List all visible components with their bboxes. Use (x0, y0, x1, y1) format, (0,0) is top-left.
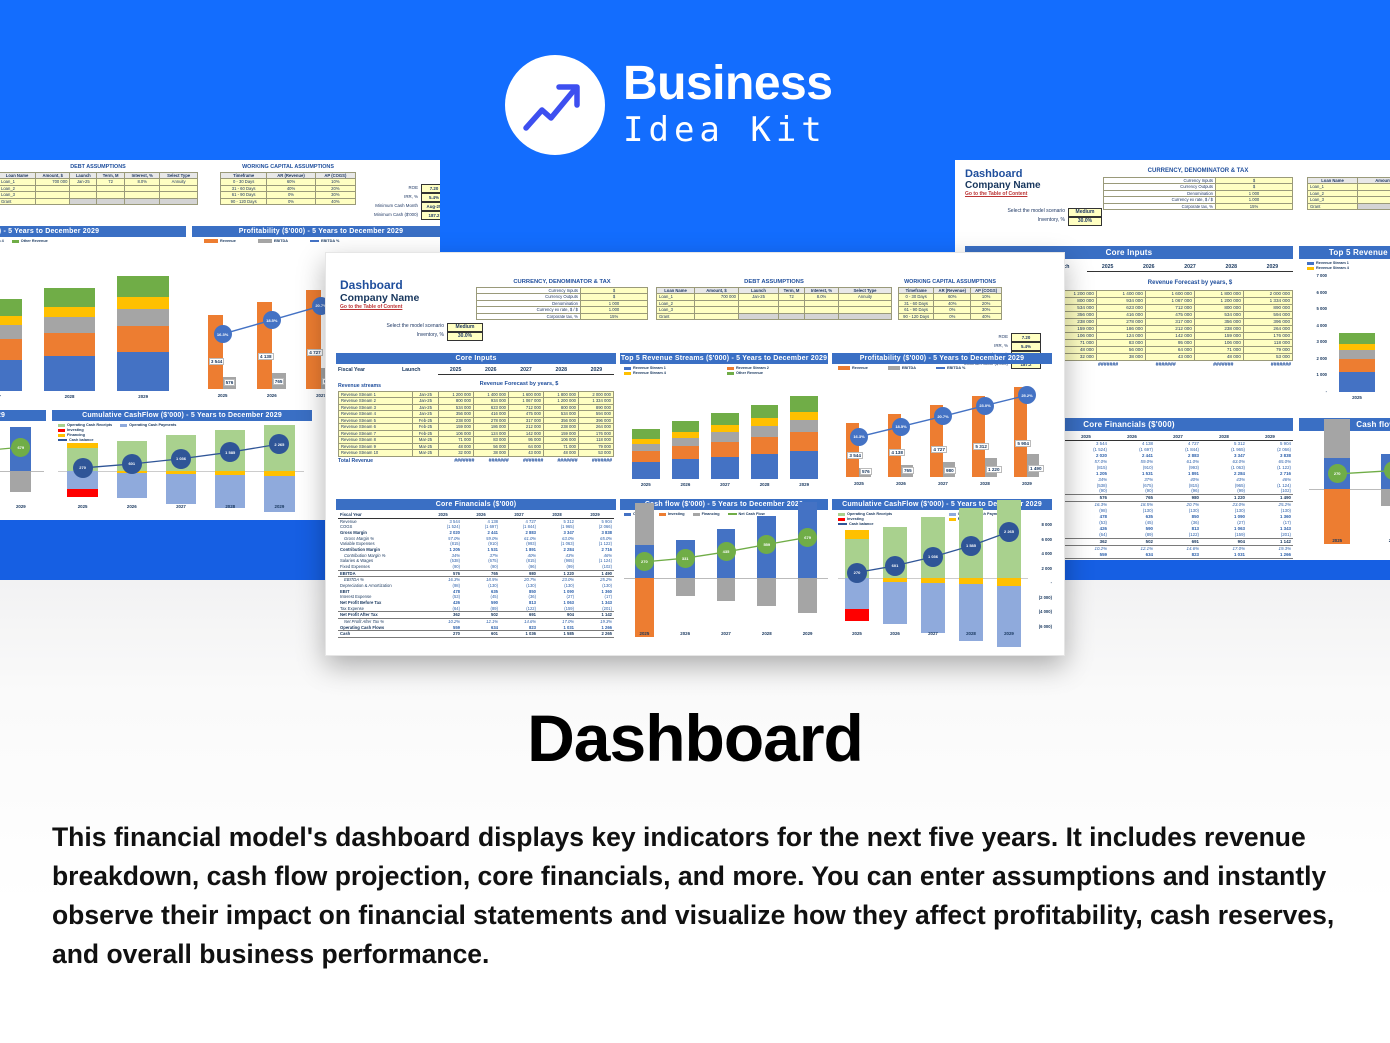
cell-forecast-value[interactable]: 32 000 (439, 450, 474, 456)
bar-segment (0, 339, 22, 360)
cell-forecast-value[interactable]: 48 000 (1194, 353, 1243, 360)
cell-forecast-value[interactable]: 53 000 (1243, 353, 1292, 360)
debt-assumptions-table[interactable]: Loan Name Amount, $ Launch Term, M Inter… (656, 287, 892, 320)
ebitda-percent-bubble: 23.0% (976, 397, 994, 415)
cell-label: Corporate tax, % (477, 313, 581, 319)
bar-segment (672, 438, 700, 447)
profitability-chart: 3 5445764 1387654 7279805 3121 2205 9041… (836, 379, 1050, 493)
cell-ar[interactable]: 0% (267, 198, 315, 204)
table-row[interactable]: Grant (1308, 203, 1390, 209)
growth-arrow-icon (505, 55, 605, 155)
table-header-row: Timeframe AR (Revenue) AP (COGS) (221, 173, 356, 179)
bar-segment (711, 425, 739, 432)
x-axis-tick: 2026 (672, 482, 700, 487)
cell-forecast-value[interactable]: 1 067 000 (1145, 297, 1194, 304)
profitability-chart-title: Profitability ($'000) - 5 Years to Decem… (192, 226, 440, 237)
scenario-select[interactable]: Medium (447, 323, 483, 332)
row-value: 1 220 (538, 570, 576, 577)
dashboard-heading-right: Dashboard Company Name Go to the Table o… (965, 168, 1041, 197)
x-axis-tick: 2027 (922, 481, 964, 486)
legend-item: Revenue (838, 366, 868, 370)
year-header: 20252026202720282029 (1087, 264, 1293, 272)
page-title: Dashboard (0, 700, 1390, 776)
cell-launch[interactable] (739, 313, 779, 319)
cell-stream-name[interactable]: Revenue Stream 10 (339, 450, 413, 456)
table-row[interactable]: Corporate tax, %15% (1104, 203, 1293, 209)
cell-forecast-value[interactable]: 396 000 (1243, 318, 1292, 325)
profitability-banner: Profitability ($'000) - 5 Years to Decem… (832, 353, 1052, 364)
scenario-selector-row: Select the model scenario Medium (352, 323, 483, 332)
row-value: 601 (462, 631, 500, 638)
ebitda-percent-bubble: 16.3% (214, 325, 232, 343)
col-ap: AP (COGS) (971, 288, 1002, 294)
cell-forecast-value[interactable]: 278 000 (1096, 318, 1145, 325)
cash-balance-bubble: 2 265 (999, 522, 1019, 542)
net-cash-flow-line (624, 525, 828, 627)
legend-item: Revenue Stream 1 (624, 366, 719, 370)
bar-plot-area: 270331435559679 (624, 525, 828, 627)
net-cash-flow-bubble: 679 (11, 438, 30, 457)
bar-column (0, 255, 22, 391)
x-axis-tick: 2028 (206, 504, 255, 509)
working-capital-table[interactable]: Timeframe AR (Revenue) AP (COGS) 0 - 30 … (220, 172, 356, 205)
cash-balance-bubble: 270 (847, 563, 867, 583)
working-capital-table[interactable]: Timeframe AR (Revenue) AP (COGS) 0 - 30 … (898, 287, 1002, 320)
top5-revenue-chart-right: -1 0002 0003 0004 0005 0006 0007 0002025… (1307, 276, 1390, 406)
row-value: 1 142 (1247, 538, 1293, 545)
x-axis-tick: 2028 (964, 481, 1006, 486)
bar-segment (632, 451, 660, 462)
table-header-row: Timeframe AR (Revenue) AP (COGS) (899, 288, 1002, 294)
table-of-content-link[interactable]: Go to the Table of Content (340, 304, 419, 310)
cell-forecast-value[interactable]: 38 000 (1096, 353, 1145, 360)
x-axis-tick: 2025 (1309, 538, 1365, 543)
bar-plot-area: 270331435559679 (1309, 440, 1390, 534)
kpi-group: ROE7.20 IRR, %5.4% Minimum Cash MonthAug… (366, 184, 440, 220)
ebitda-percent-bubble: 18.5% (263, 311, 281, 329)
table-row[interactable]: Corporate tax, %15% (477, 313, 648, 319)
x-axis-labels: 20252026202720282029 (58, 502, 304, 509)
cash-balance-bubble: 270 (73, 458, 93, 478)
bar-segment (0, 316, 22, 325)
currency-panel-title: CURRENCY, DENOMINATOR & TAX (476, 279, 648, 285)
cell-ap[interactable]: 40% (315, 198, 355, 204)
cell-forecast-value[interactable]: 53 000 (579, 450, 614, 456)
cell-forecast-value[interactable]: 43 000 (509, 450, 544, 456)
net-cash-flow-bubble: 435 (717, 542, 736, 561)
cell-forecast-value[interactable]: 264 000 (1243, 325, 1292, 332)
bar-segment (751, 426, 779, 437)
y-axis-tick: 6 000 (1032, 537, 1052, 542)
year-header-cell: 2025 (438, 367, 473, 374)
revenue-streams-header: Revenue streams (338, 383, 381, 390)
table-row[interactable]: 0 - 30 Days60%10% (899, 294, 1002, 300)
row-value: 576 (1063, 495, 1109, 502)
debt-assumptions-title: DEBT ASSUMPTIONS (0, 164, 198, 170)
cell-forecast-value[interactable]: 95 000 (1145, 339, 1194, 346)
total-revenue-value: ####### (476, 458, 510, 465)
y-axis-tick: 3 000 (1307, 339, 1327, 344)
cell-ar[interactable]: 0% (934, 313, 971, 319)
x-axis-tick: 2027 (156, 504, 205, 509)
x-axis-tick: 2025 (1339, 395, 1375, 400)
table-row: EBITDA5767659801 2201 490 (338, 570, 614, 577)
cell-launch[interactable] (70, 198, 97, 204)
total-revenue-value: ####### (1063, 362, 1121, 369)
cell-amount[interactable] (1358, 203, 1390, 209)
table-row[interactable]: Grant (657, 313, 892, 319)
cell-ap[interactable]: 40% (971, 313, 1002, 319)
bar-segment (44, 307, 96, 317)
row-value: 904 (538, 612, 576, 619)
x-axis-tick: 2025 (624, 631, 665, 636)
y-axis-tick: 2 000 (1032, 566, 1052, 571)
top5-revenue-chart-title: Top 5 Revenue Streams ($'000) - 5 Years … (0, 226, 186, 237)
top5-revenue-banner-right: Top 5 Revenue Streams ($'000) - 5 Years … (1299, 246, 1390, 259)
x-axis-labels: 20252026202720282029 (838, 479, 1048, 486)
row-value: 765 (1109, 495, 1155, 502)
row-value: 1 142 (576, 612, 614, 619)
cell-forecast-value[interactable]: 186 000 (1096, 325, 1145, 332)
x-axis-labels: 20252026202720282029 (1309, 536, 1390, 543)
row-label: EBITDA (338, 570, 424, 577)
cell-launch[interactable]: Mar-25 (413, 450, 439, 456)
x-axis-tick: 2025 (838, 481, 880, 486)
y-axis-tick: 7 000 (1307, 273, 1327, 278)
cell-forecast-value[interactable]: 934 000 (1096, 297, 1145, 304)
row-value: 270 (424, 631, 462, 638)
cell-timeframe: 90 - 120 Days (899, 313, 934, 319)
row-value: 601 (1109, 558, 1155, 560)
cell-forecast-value[interactable]: 124 000 (1096, 332, 1145, 339)
row-value: 362 (1063, 538, 1109, 545)
y-axis-tick: - (1307, 389, 1327, 394)
revenue-streams-grid[interactable]: Revenue Stream 1Jan-251 200 0001 400 000… (338, 391, 614, 457)
brand-name-primary: Business (623, 60, 832, 108)
net-cash-flow-bubble: 679 (798, 528, 817, 547)
bar-plot-area: 270331435559679 (0, 440, 44, 500)
cell-interest[interactable] (805, 313, 839, 319)
cell-type[interactable] (160, 198, 198, 204)
cell-forecast-value[interactable]: 317 000 (1145, 318, 1194, 325)
revenue-forecast-title: Revenue Forecast by years, $ (424, 381, 614, 387)
row-label: Cash (338, 631, 424, 638)
bar-segment (751, 437, 779, 454)
x-axis-labels: 20252026202720282029 (626, 480, 824, 487)
cell-forecast-value[interactable]: 64 000 (1145, 346, 1194, 353)
bar-segment (790, 420, 818, 432)
kpi-min-cash: Minimum Cash ($'000)187.2 (366, 211, 440, 220)
cell-term[interactable] (779, 313, 805, 319)
table-row: Cash2706011 0361 5852 265 (338, 631, 614, 638)
bar-column (1339, 276, 1375, 392)
x-axis-tick: 2026 (107, 504, 156, 509)
cell-forecast-value[interactable]: 106 000 (1194, 339, 1243, 346)
x-axis-tick: 2027 (0, 394, 22, 399)
revenue-forecast-title-right: Revenue Forecast by years, $ (1087, 280, 1293, 286)
total-revenue-value: ####### (1235, 362, 1293, 369)
cumulative-cashflow-chart-title: Cumulative CashFlow ($'000) - 5 Years to… (52, 410, 312, 421)
total-revenue-value: ####### (511, 458, 545, 465)
y-axis-tick: 4 000 (1307, 323, 1327, 328)
cash-balance-bubble: 1 036 (171, 449, 191, 469)
bar-segment (632, 444, 660, 451)
bar-segment (711, 413, 739, 425)
cell-forecast-value[interactable]: 212 000 (1145, 325, 1194, 332)
row-value: 1 585 (538, 631, 576, 638)
cash-balance-bubble: 1 585 (961, 536, 981, 556)
x-axis-labels: 20252026202720282029 (838, 629, 1028, 636)
row-value: 270 (1063, 558, 1109, 560)
top5-revenue-chart: 20252026202720282029 (0, 255, 182, 405)
ebitda-percent-line (838, 379, 1048, 477)
kpi-roe: ROE7.20 (924, 333, 1050, 342)
revenue-streams-table[interactable]: Revenue Stream 1Jan-251 200 0001 400 000… (338, 391, 614, 464)
debt-assumptions-title: DEBT ASSUMPTIONS (656, 279, 892, 285)
cell-forecast-value[interactable]: 238 000 (1194, 325, 1243, 332)
table-row[interactable]: Grant (0, 198, 198, 204)
bar-segment (672, 421, 700, 432)
legend-item: EBITDA (888, 366, 916, 370)
bar-segment (711, 432, 739, 442)
year-header-cell: 2029 (579, 367, 614, 374)
currency-panel-table[interactable]: Currency Inputs$ Currency Outputs$ Denom… (1103, 177, 1293, 210)
row-value: 2 265 (1247, 558, 1293, 560)
bar-segment (751, 405, 779, 419)
legend-item: Revenue Stream 2 (727, 366, 769, 370)
x-axis-tick: 2029 (0, 504, 44, 509)
y-axis-tick: 8 000 (1032, 522, 1052, 527)
x-axis-labels: 20252026202720282029 (1331, 393, 1390, 400)
dashboard-header: Dashboard Company Name Go to the Table o… (340, 279, 419, 310)
row-value: 1 585 (1201, 558, 1247, 560)
cell-forecast-value[interactable]: 2 000 000 (1243, 291, 1292, 298)
x-axis-tick: 2028 (746, 631, 787, 636)
year-header-cell: 2027 (508, 367, 543, 374)
cell-term[interactable] (97, 198, 125, 204)
bar-segment (672, 446, 700, 459)
inventory-input[interactable]: 30.0% (447, 332, 483, 341)
cell-forecast-value[interactable]: 142 000 (1145, 332, 1194, 339)
legend-item: Operating Cash Receipts (58, 423, 112, 427)
scenario-select[interactable]: Medium (1068, 208, 1102, 217)
table-row[interactable]: 90 - 120 Days0%40% (221, 198, 356, 204)
inventory-input[interactable]: 30.0% (1068, 217, 1102, 226)
row-value: 1 036 (500, 631, 538, 638)
table-row[interactable]: 61 - 90 Days0%30% (899, 307, 1002, 313)
bar-column (711, 381, 739, 479)
bar-column (44, 255, 96, 391)
currency-panel-table[interactable]: Currency Inputs$ Currency Outputs$ Denom… (476, 287, 648, 320)
legend-item: Financing (693, 512, 720, 516)
x-axis-tick: 2029 (787, 631, 828, 636)
bar-segment (44, 288, 96, 307)
kpi-irr: IRR, %5.4% (366, 193, 440, 202)
bar-column (632, 381, 660, 479)
bar-segment (117, 276, 169, 297)
cell-forecast-value[interactable]: 79 000 (1243, 346, 1292, 353)
x-axis-tick: 2026 (1365, 538, 1390, 543)
bar-segment (790, 412, 818, 420)
dashboard-screenshot-main[interactable]: Dashboard Company Name Go to the Table o… (325, 252, 1065, 656)
total-revenue-row: Total Revenue###########################… (338, 458, 614, 465)
cell-forecast-value[interactable]: 1 600 000 (1145, 291, 1194, 298)
debt-assumptions-table-right[interactable]: Loan Name Amount, $ Launch Term, M Loan_… (1307, 177, 1390, 210)
table-row[interactable]: 0 - 30 Days60%10% (221, 179, 356, 185)
bar-segment (44, 317, 96, 333)
bar-segment (117, 326, 169, 352)
cell-amount[interactable] (36, 198, 70, 204)
cash-balance-bubble: 1 036 (923, 547, 943, 567)
cell-forecast-value[interactable]: 118 000 (1243, 339, 1292, 346)
year-header-cell: 2027 (1169, 264, 1210, 271)
dashboard-heading: Dashboard (340, 279, 419, 292)
row-value: 1 036 (1155, 558, 1201, 560)
cell-value[interactable]: 15% (1216, 203, 1293, 209)
cell-loan-name[interactable]: Grant (1308, 203, 1358, 209)
debt-assumptions-title-right: DEBT ASSUMPTIONS (1307, 168, 1390, 174)
bar-plot-area (1331, 276, 1390, 392)
top5-legend: Revenue Stream 1 Revenue Stream 2 Revenu… (624, 366, 826, 376)
brand-name-secondary: Idea Kit (623, 110, 832, 151)
cell-amount[interactable] (695, 313, 739, 319)
cell-forecast-value[interactable]: 594 000 (1243, 311, 1292, 318)
fiscal-year-label: Fiscal Year (338, 367, 365, 374)
cell-forecast-value[interactable]: 56 000 (1096, 346, 1145, 353)
core-financials-grid: Fiscal Year20252026202720282029Revenue3 … (338, 512, 614, 638)
year-header-cell: 2028 (544, 367, 579, 374)
x-axis-tick: 2025 (58, 504, 107, 509)
cell-forecast-value[interactable]: 890 000 (1243, 304, 1292, 311)
bar-segment (711, 457, 739, 479)
cell-loan-name[interactable]: Grant (0, 198, 36, 204)
brand-logo: Business Idea Kit (505, 55, 905, 155)
core-financials-banner: Core Financials ($'000) (336, 499, 616, 510)
table-row[interactable]: 90 - 120 Days0%40% (899, 313, 1002, 319)
kpi-min-cash-month: Minimum Cash MonthAug-25 (366, 202, 440, 211)
cell-value[interactable]: 15% (581, 313, 648, 319)
x-axis-tick: 2026 (247, 393, 296, 398)
row-label: Net Profit After Tax (338, 612, 424, 619)
ebitda-percent-bubble: 16.3% (850, 428, 868, 446)
cell-forecast-value[interactable]: 83 000 (1096, 339, 1145, 346)
cash-balance-bubble: 601 (122, 454, 142, 474)
cell-forecast-value[interactable]: 1 800 000 (1194, 291, 1243, 298)
cell-forecast-value[interactable]: 48 000 (544, 450, 579, 456)
bar-plot-area: 3 5445764 1387654 7279805 3121 2205 9041… (838, 379, 1048, 477)
legend-item: EBITDA (258, 239, 288, 243)
total-revenue-value: ####### (580, 458, 614, 465)
year-header-cell: 2026 (473, 367, 508, 374)
x-axis-tick: 2028 (751, 482, 779, 487)
cell-forecast-value[interactable]: 71 000 (1194, 346, 1243, 353)
table-row: Net Profit After Tax3625026919041 142 (338, 612, 614, 619)
legend-item: Revenue Stream 4 (1307, 266, 1390, 270)
bar-segment (1339, 350, 1375, 359)
total-revenue-value: ####### (1120, 362, 1178, 369)
table-row[interactable]: 31 - 60 Days40%20% (221, 185, 356, 191)
cell-type[interactable] (839, 313, 892, 319)
table-row[interactable]: 31 - 60 Days40%20% (899, 300, 1002, 306)
x-axis-tick: 2026 (665, 631, 706, 636)
bar-segment (117, 297, 169, 309)
legend-item: Other Revenue (727, 371, 763, 375)
x-axis-labels: 20252026202720282029 (0, 502, 44, 509)
bar-segment (0, 360, 22, 391)
bar-segment (117, 309, 169, 326)
cash-flow-chart-right: 27033143555967920252026202720282029 (1307, 440, 1390, 550)
x-axis-labels: 20252026202720282029 (0, 392, 180, 399)
row-value: 1 490 (576, 570, 614, 577)
cell-forecast-value[interactable]: 38 000 (474, 450, 509, 456)
top5-revenue-chart: 20252026202720282029 (624, 381, 826, 493)
legend-item: Revenue Stream 1 (1307, 261, 1390, 265)
cell-forecast-value[interactable]: 176 000 (1243, 332, 1292, 339)
top5-legend-right: Revenue Stream 1 Revenue Stream 2 Revenu… (1307, 261, 1390, 271)
cell-forecast-value[interactable]: 800 000 (1194, 304, 1243, 311)
cell-forecast-value[interactable]: 43 000 (1145, 353, 1194, 360)
profitability-legend: Revenue EBITDA EBITDA % (204, 239, 440, 244)
table-row[interactable]: 61 - 90 Days0%30% (221, 192, 356, 198)
cell-forecast-value[interactable]: 475 000 (1145, 311, 1194, 318)
net-cash-flow-line (1309, 440, 1390, 534)
row-value: 576 (424, 570, 462, 577)
cumulative-cashflow-chart: 2706011 0361 5852 2652025202620272028202… (56, 440, 306, 516)
year-header-row: 20252026202720282029 (438, 367, 614, 375)
cell-forecast-value[interactable]: 416 000 (1096, 311, 1145, 318)
cell-forecast-value[interactable]: 1 200 000 (1194, 297, 1243, 304)
cell-loan-name[interactable]: Grant (657, 313, 695, 319)
row-value: 691 (1155, 538, 1201, 545)
cell-forecast-value[interactable]: 712 000 (1145, 304, 1194, 311)
bar-plot-area: 2706011 0361 5852 265 (838, 525, 1028, 627)
top5-revenue-legend: Revenue Stream 1 Revenue Stream 2 Revenu… (0, 239, 184, 244)
year-header: 20252026202720282029 (438, 367, 614, 375)
y-axis-tick: 4 000 (1032, 551, 1052, 556)
y-axis-tick: - (1032, 580, 1052, 585)
scenario-group-main: Select the model scenario Medium Invento… (352, 323, 483, 341)
cumulative-cashflow-chart: 8 0006 0004 0002 000-(2 000)(4 000)(6 00… (836, 525, 1052, 643)
debt-assumptions-table[interactable]: Loan Name Amount, $ Launch Term, M Inter… (0, 172, 198, 205)
bar-segment (44, 333, 96, 356)
cash-flow-chart: 27033143555967920252026202720282029 (0, 440, 46, 516)
bar-segment (790, 432, 818, 451)
x-axis-tick: 2025 (838, 631, 876, 636)
row-value: 904 (1201, 538, 1247, 545)
table-of-content-link[interactable]: Go to the Table of Content (965, 191, 1041, 197)
x-axis-tick: 2026 (876, 631, 914, 636)
row-value: 1 490 (1247, 495, 1293, 502)
x-axis-tick: 2029 (255, 504, 304, 509)
table-row[interactable]: Revenue Stream 10Mar-2532 00038 00043 00… (339, 450, 614, 456)
legend-item: Operating Cash Payments (120, 423, 176, 427)
cell-interest[interactable] (125, 198, 160, 204)
legend-item: Revenue Stream 4 (624, 371, 719, 375)
bar-segment (632, 429, 660, 438)
cell-forecast-value[interactable]: 623 000 (1096, 304, 1145, 311)
cell-forecast-value[interactable]: 1 334 000 (1243, 297, 1292, 304)
cell-forecast-value[interactable]: 1 400 000 (1096, 291, 1145, 298)
cell-forecast-value[interactable]: 356 000 (1194, 318, 1243, 325)
cell-forecast-value[interactable]: 159 000 (1194, 332, 1243, 339)
bar-segment (117, 352, 169, 391)
cash-flow-chart: 27033143555967920252026202720282029 (622, 525, 830, 643)
y-axis-tick: 6 000 (1307, 290, 1327, 295)
x-axis-labels: 20252026202720282029 (624, 629, 828, 636)
bar-plot-area (626, 381, 824, 479)
year-header-cell: 2028 (1211, 264, 1252, 271)
cell-forecast-value[interactable]: 534 000 (1194, 311, 1243, 318)
